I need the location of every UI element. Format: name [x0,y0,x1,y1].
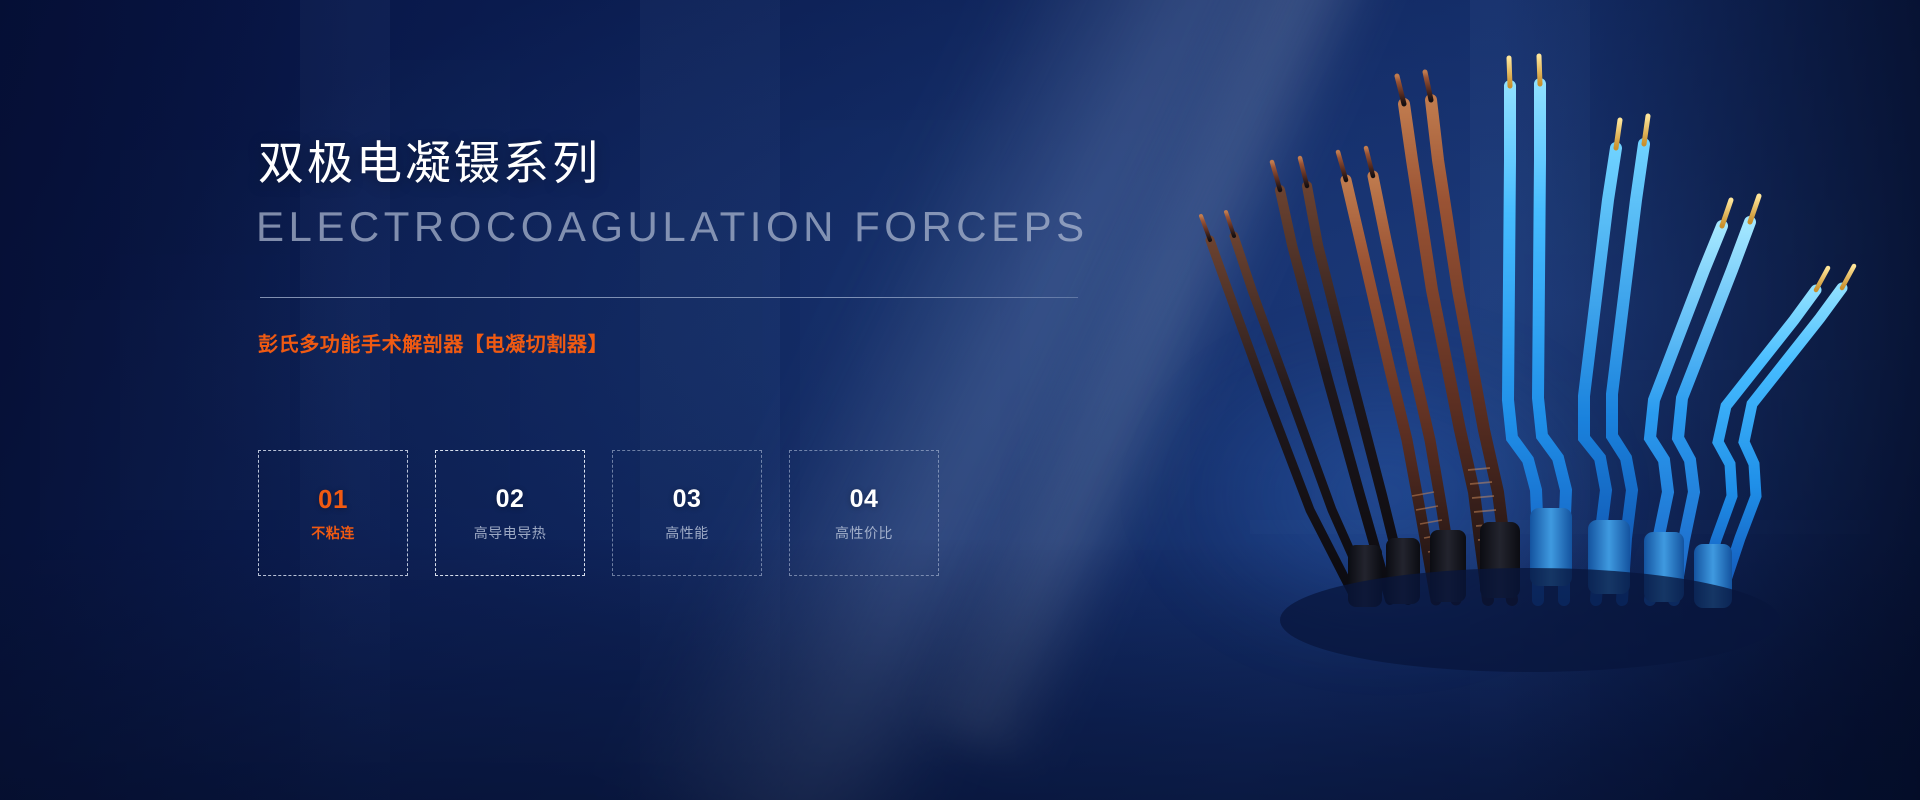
feature-number: 03 [673,487,702,512]
feature-label: 高导电导热 [474,526,547,540]
feature-list: 01 不粘连 02 高导电导热 03 高性能 04 高性价比 [258,450,939,576]
background-band [1470,0,1590,800]
banner-content: 双极电凝镊系列 ELECTROCOAGULATION FORCEPS 彭氏多功能… [258,0,1158,800]
page-subtitle: 彭氏多功能手术解剖器【电凝切割器】 [258,335,608,355]
feature-number: 01 [318,486,348,512]
feature-item-01[interactable]: 01 不粘连 [258,450,408,576]
feature-number: 02 [496,487,525,512]
feature-number: 04 [850,487,879,512]
page-title-en: ELECTROCOAGULATION FORCEPS [256,206,1089,248]
feature-item-03[interactable]: 03 高性能 [612,450,762,576]
feature-label: 高性价比 [835,526,893,540]
forceps-dark-1 [1201,212,1372,600]
feature-label: 高性能 [665,526,709,540]
page-title-cn: 双极电凝镊系列 [258,140,601,186]
feature-item-04[interactable]: 04 高性价比 [789,450,939,576]
feature-label: 不粘连 [311,526,355,540]
feature-item-02[interactable]: 02 高导电导热 [435,450,585,576]
forceps-blue-4 [1700,266,1854,596]
title-divider [260,297,1078,298]
forceps-blue-3 [1650,196,1759,600]
product-banner: 双极电凝镊系列 ELECTROCOAGULATION FORCEPS 彭氏多功能… [0,0,1920,800]
forceps-bronze-1 [1338,148,1456,600]
forceps-blue-2 [1584,116,1648,600]
forceps-dark-2 [1272,158,1408,600]
